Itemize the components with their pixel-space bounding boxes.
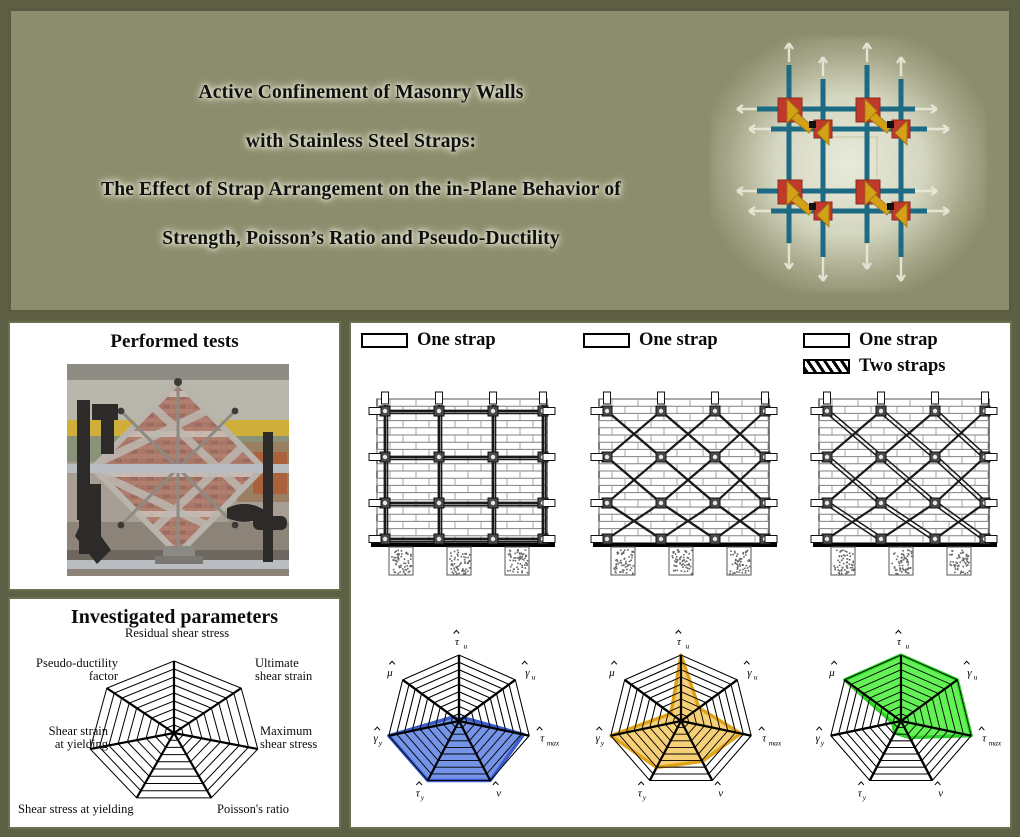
svg-text:τ: τ: [982, 733, 987, 745]
wall-diagonal-single-straps-diagram: [581, 391, 789, 581]
legend-label-one-strap: One strap: [859, 331, 938, 350]
param-label-shear-stress-at-yielding: Shear stress at yielding: [18, 803, 134, 816]
strap-confinement-schematic-icon: [701, 29, 1001, 301]
poster-root: Active Confinement of Masonry Walls with…: [0, 0, 1020, 837]
svg-text:τ: τ: [897, 636, 902, 648]
svg-text:max: max: [989, 738, 1002, 747]
title-line-3: The Effect of Strap Arrangement on the i…: [41, 180, 681, 200]
svg-text:τ: τ: [540, 733, 545, 745]
svg-text:μ: μ: [828, 667, 835, 679]
param-label-pseudo-ductility-factor: Pseudo-ductilityfactor: [10, 657, 118, 683]
radar-chart-diagonal-double: τuγuτmaxντyγyμ: [797, 617, 1013, 822]
svg-text:μ: μ: [386, 667, 393, 679]
param-label-shear-strain-at-yielding: Shear strainat yielding: [16, 725, 108, 751]
svg-text:u: u: [974, 672, 978, 681]
svg-text:τ: τ: [762, 733, 767, 745]
panel-investigated-parameters: Investigated parameters Residual shear s…: [8, 597, 341, 829]
title-line-4: Strength, Poisson’s Ratio and Pseudo-Duc…: [41, 229, 681, 249]
svg-text:y: y: [378, 738, 383, 747]
param-label-maximum-shear-stress: Maximumshear stress: [260, 725, 317, 751]
title-line-1: Active Confinement of Masonry Walls: [41, 83, 681, 103]
radar-chart-orthogonal: τuγuτmaxντyγyμ: [355, 617, 571, 822]
svg-text:y: y: [420, 793, 425, 802]
svg-text:u: u: [532, 672, 536, 681]
legend-diagonal-single: One strap: [583, 329, 718, 355]
svg-text:max: max: [547, 738, 560, 747]
legend-row-one-strap: One strap: [361, 329, 496, 351]
wall-column-diagonal-double: One strap Two straps τuγuτmaxντyγyμ: [797, 327, 1013, 827]
investigated-parameters-radar-chart: Residual shear stress Ultimateshear stra…: [10, 629, 339, 827]
wall-diagonal-double-straps-diagram: [801, 391, 1009, 581]
investigated-parameters-title: Investigated parameters: [10, 607, 339, 627]
poster-title: Active Confinement of Masonry Walls with…: [41, 83, 681, 248]
legend-label-one-strap: One strap: [417, 331, 496, 350]
title-line-2: with Stainless Steel Straps:: [41, 132, 681, 152]
svg-text:ν: ν: [496, 787, 501, 799]
svg-text:u: u: [906, 642, 910, 651]
svg-text:u: u: [754, 672, 758, 681]
panel-strap-arrangements: One strap τuγuτmaxντyγyμ One strap: [349, 321, 1012, 829]
param-label-poissons-ratio: Poisson's ratio: [217, 803, 289, 816]
radar-chart-diagonal-single: τuγuτmaxντyγyμ: [577, 617, 793, 822]
legend-label-two-straps: Two straps: [859, 357, 946, 376]
poster-header: Active Confinement of Masonry Walls with…: [8, 8, 1012, 313]
legend-row-one-strap: One strap: [583, 329, 718, 351]
svg-text:u: u: [464, 642, 468, 651]
svg-text:max: max: [769, 738, 782, 747]
legend-row-one-strap: One strap: [803, 329, 946, 351]
legend-label-one-strap: One strap: [639, 331, 718, 350]
legend-swatch-one-strap-icon: [803, 333, 850, 348]
param-label-residual-shear-stress: Residual shear stress: [125, 627, 229, 640]
legend-orthogonal: One strap: [361, 329, 496, 355]
svg-text:u: u: [686, 642, 690, 651]
performed-tests-title: Performed tests: [10, 332, 339, 351]
legend-swatch-two-straps-icon: [803, 359, 850, 374]
legend-swatch-one-strap-icon: [583, 333, 630, 348]
legend-diagonal-double: One strap Two straps: [803, 329, 946, 381]
wall-orthogonal-straps-diagram: [359, 391, 567, 581]
svg-text:y: y: [820, 738, 825, 747]
svg-text:γ: γ: [525, 667, 530, 679]
svg-text:γ: γ: [747, 667, 752, 679]
svg-text:τ: τ: [455, 636, 460, 648]
svg-text:ν: ν: [718, 787, 723, 799]
legend-row-two-straps: Two straps: [803, 355, 946, 377]
svg-text:μ: μ: [608, 667, 615, 679]
diagonal-compression-test-photo: [67, 364, 289, 576]
svg-text:γ: γ: [373, 733, 378, 745]
wall-column-orthogonal: One strap τuγuτmaxντyγyμ: [355, 327, 571, 827]
panel-performed-tests: Performed tests: [8, 321, 341, 591]
param-label-ultimate-shear-strain: Ultimateshear strain: [255, 657, 312, 683]
wall-column-diagonal-single: One strap τuγuτmaxντyγyμ: [577, 327, 793, 827]
svg-text:γ: γ: [815, 733, 820, 745]
svg-text:γ: γ: [595, 733, 600, 745]
svg-text:y: y: [862, 793, 867, 802]
svg-text:ν: ν: [938, 787, 943, 799]
svg-text:y: y: [600, 738, 605, 747]
svg-text:y: y: [642, 793, 647, 802]
svg-text:γ: γ: [967, 667, 972, 679]
svg-text:τ: τ: [677, 636, 682, 648]
legend-swatch-one-strap-icon: [361, 333, 408, 348]
